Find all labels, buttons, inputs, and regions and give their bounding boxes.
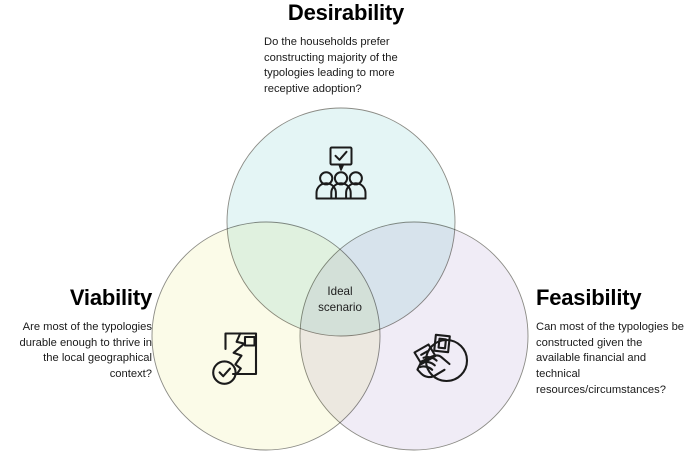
label-block-feasibility: Feasibility Can most of the typologies b…	[536, 286, 685, 399]
label-block-viability: Viability Are most of the typologies dur…	[2, 286, 152, 383]
cracked-structure-check-icon	[209, 330, 269, 388]
hand-holding-money-icon	[408, 331, 470, 387]
body-feasibility: Can most of the typologies be constructe…	[536, 320, 685, 400]
body-viability: Are most of the typologies durable enoug…	[2, 320, 152, 384]
body-desirability: Do the households prefer constructing ma…	[248, 35, 444, 99]
heading-desirability: Desirability	[248, 1, 444, 26]
venn-diagram: Ideal scenario Desirability Do the house…	[0, 0, 685, 455]
heading-feasibility: Feasibility	[536, 286, 685, 311]
heading-viability: Viability	[2, 286, 152, 311]
label-block-desirability: Desirability Do the households prefer co…	[248, 0, 444, 98]
people-approval-icon	[310, 146, 372, 200]
